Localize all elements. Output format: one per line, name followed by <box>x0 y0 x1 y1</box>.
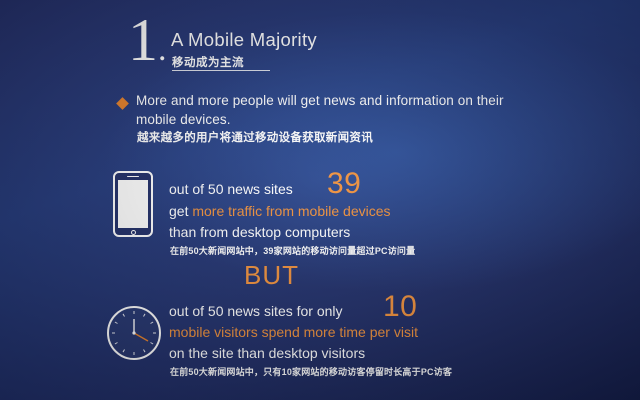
stat2-line1: out of 50 news sites for only <box>169 303 343 319</box>
stat2-line2: mobile visitors spend more time per visi… <box>169 324 418 340</box>
clock-face <box>109 308 159 358</box>
stat1-line1: out of 50 news sites <box>169 181 293 197</box>
clock-center <box>132 331 135 334</box>
section-number: 1. <box>128 10 167 80</box>
stat1-number: 39 <box>327 167 361 201</box>
page-title: A Mobile Majority <box>171 29 317 51</box>
stat2-caption-chinese: 在前50大新闻网站中，只有10家网站的移动访客停留时长高于PC访客 <box>170 365 452 378</box>
smartphone-speaker <box>127 176 139 178</box>
clock-hand-hour <box>134 333 148 341</box>
smartphone-home-button <box>131 230 136 235</box>
stat1-line2: get more traffic from mobile devices <box>169 203 391 219</box>
title-divider <box>172 70 270 71</box>
section-number-dot: . <box>158 31 167 68</box>
stat1-line3: than from desktop computers <box>169 224 350 240</box>
bullet-text-chinese: 越来越多的用户将通过移动设备获取新闻资讯 <box>137 129 373 145</box>
smartphone-screen <box>118 180 148 228</box>
contrast-word: BUT <box>244 260 299 291</box>
stat2-line3: on the site than desktop visitors <box>169 345 365 361</box>
bullet-text-english: More and more people will get news and i… <box>136 91 536 129</box>
stat2-number: 10 <box>383 290 417 324</box>
stat1-caption-chinese: 在前50大新闻网站中，39家网站的移动访问量超过PC访问量 <box>170 244 415 257</box>
stat1-line2-plain: get <box>169 203 192 219</box>
smartphone-icon <box>113 171 153 237</box>
page-title-chinese: 移动成为主流 <box>172 54 244 70</box>
slide-canvas: 1. A Mobile Majority 移动成为主流 More and mor… <box>0 0 640 400</box>
section-number-value: 1 <box>128 7 158 73</box>
diamond-bullet-icon <box>116 97 129 110</box>
clock-icon <box>107 306 161 360</box>
stat1-line2-highlight: more traffic from mobile devices <box>192 203 390 219</box>
